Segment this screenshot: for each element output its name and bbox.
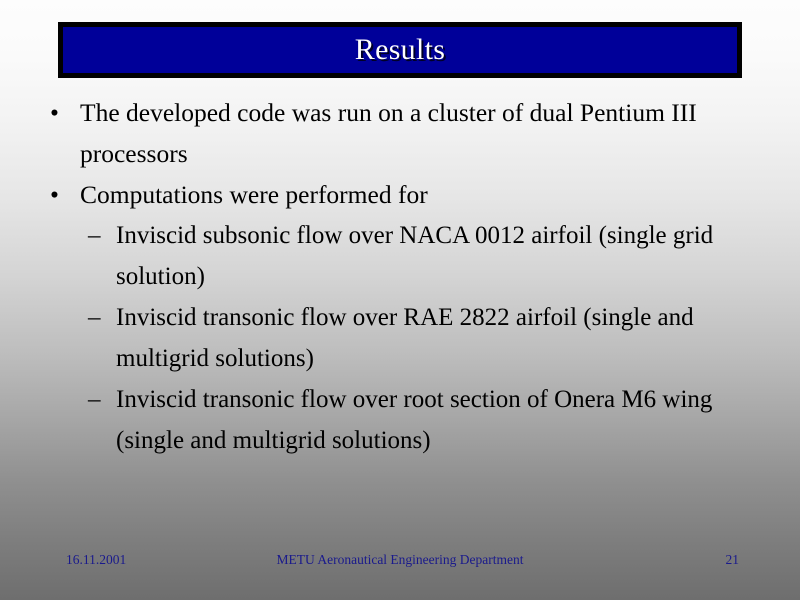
list-item: • The developed code was run on a cluste…: [28, 92, 772, 174]
bullet-list-level1: • The developed code was run on a cluste…: [28, 92, 772, 461]
list-item-label: Inviscid subsonic flow over NACA 0012 ai…: [116, 215, 772, 297]
slide-title-banner: Results: [58, 22, 742, 78]
bullet-marker-icon: •: [50, 92, 59, 133]
list-item: – Inviscid transonic flow over RAE 2822 …: [28, 297, 772, 379]
dash-marker-icon: –: [88, 297, 101, 338]
list-item-label: Inviscid transonic flow over RAE 2822 ai…: [116, 297, 772, 379]
list-item-label: Inviscid transonic flow over root sectio…: [116, 379, 772, 461]
list-item: – Inviscid subsonic flow over NACA 0012 …: [28, 215, 772, 297]
list-item: • Computations were performed for: [28, 174, 772, 215]
slide-body: • The developed code was run on a cluste…: [28, 92, 772, 461]
footer-page-number: 21: [726, 548, 740, 572]
presentation-slide: Results • The developed code was run on …: [0, 0, 800, 600]
page-title: Results: [355, 35, 445, 65]
bullet-list-level2: – Inviscid subsonic flow over NACA 0012 …: [28, 215, 772, 461]
list-item: – Inviscid transonic flow over root sect…: [28, 379, 772, 461]
list-item-label: Computations were performed for: [80, 174, 772, 215]
bullet-marker-icon: •: [50, 174, 59, 215]
dash-marker-icon: –: [88, 215, 101, 256]
slide-footer: 16.11.2001 METU Aeronautical Engineering…: [0, 548, 800, 572]
list-item-label: The developed code was run on a cluster …: [80, 92, 772, 174]
footer-organization: METU Aeronautical Engineering Department: [0, 548, 800, 572]
dash-marker-icon: –: [88, 379, 101, 420]
